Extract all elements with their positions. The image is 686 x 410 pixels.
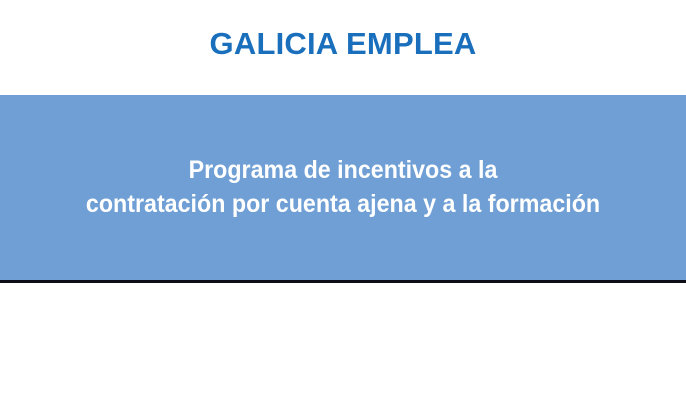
program-banner: Programa de incentivos a la contratación… xyxy=(0,95,686,283)
page-title: GALICIA EMPLEA xyxy=(0,24,686,64)
program-banner-line-1: Programa de incentivos a la xyxy=(24,153,662,187)
program-banner-text: Programa de incentivos a la contratación… xyxy=(24,153,662,221)
footer-logos: XUNTA DE GALICIA CONSELLERÍA DE PROMOCIÓ… xyxy=(0,286,686,410)
program-banner-line-2: contratación por cuenta ajena y a la for… xyxy=(24,187,662,221)
poster-page: GALICIA EMPLEA Programa de incentivos a … xyxy=(0,0,686,410)
